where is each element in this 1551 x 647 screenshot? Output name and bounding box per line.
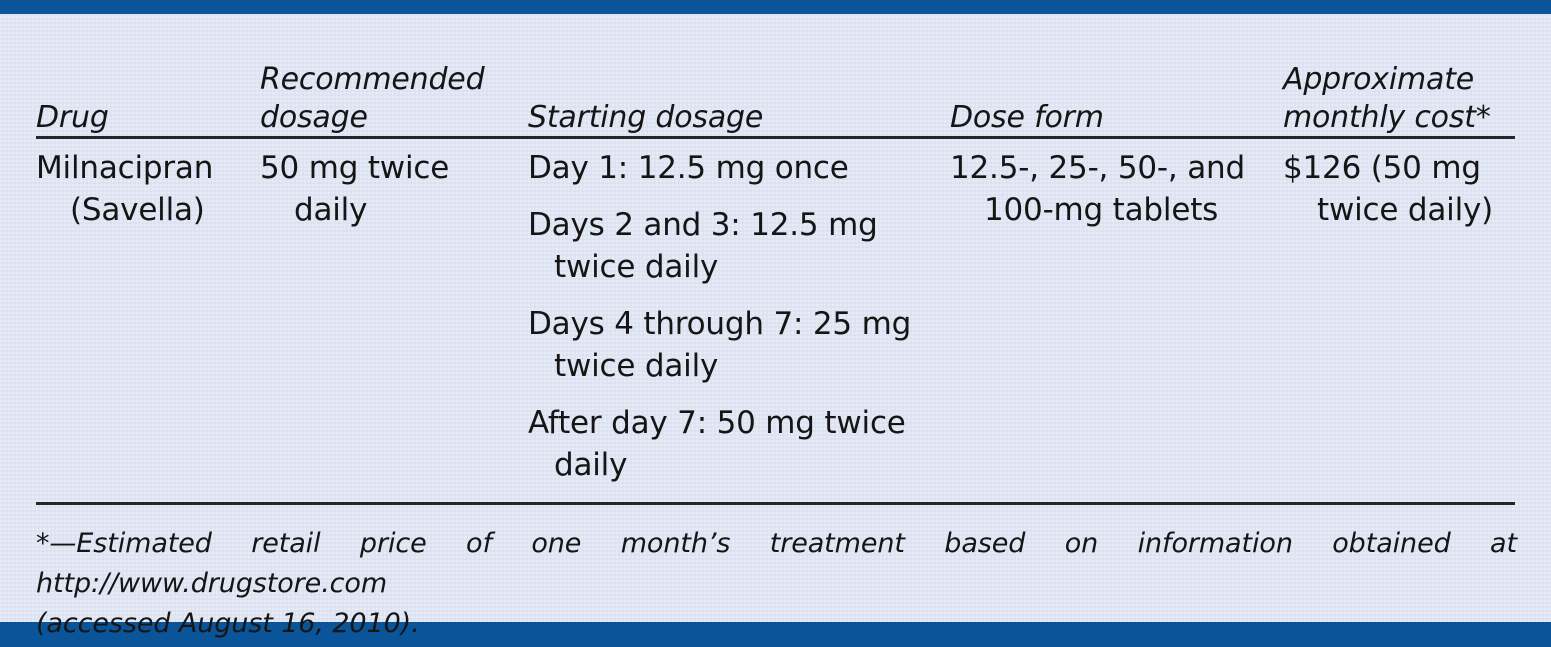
cell-line: Days 4 through 7: 25 mg twice daily: [528, 303, 920, 387]
table-header-row: Drug Recommended dosage Starting dosage …: [0, 14, 1551, 137]
column-header-monthly-cost: Approximate monthly cost*: [1283, 61, 1491, 137]
cell-dose-form: 12.5-, 25-, 50-, and 100-mg tablets: [950, 147, 1250, 231]
table-figure: Drug Recommended dosage Starting dosage …: [0, 0, 1551, 647]
footnote-line-1: *—Estimated retail price of one month’s …: [36, 524, 1517, 604]
column-header-recommended-dosage: Recommended dosage: [260, 61, 484, 137]
cell-drug: Milnacipran (Savella): [36, 147, 236, 231]
table-footnote: *—Estimated retail price of one month’s …: [36, 524, 1517, 644]
cell-line: 12.5-, 25-, 50-, and 100-mg tablets: [950, 147, 1250, 231]
footnote-line-2: (accessed August 16, 2010).: [36, 604, 1517, 644]
cell-starting-dosage: Day 1: 12.5 mg onceDays 2 and 3: 12.5 mg…: [528, 147, 920, 486]
cell-recommended-dosage: 50 mg twice daily: [260, 147, 490, 231]
column-header-starting-dosage: Starting dosage: [528, 99, 763, 137]
cell-monthly-cost: $126 (50 mg twice daily): [1283, 147, 1513, 231]
cell-line: Days 2 and 3: 12.5 mg twice daily: [528, 204, 920, 288]
column-header-drug: Drug: [36, 99, 109, 137]
cell-line: Milnacipran (Savella): [36, 147, 236, 231]
cell-line: After day 7: 50 mg twice daily: [528, 402, 920, 486]
top-accent-bar: [0, 0, 1551, 14]
header-rule: [36, 136, 1515, 139]
drug-table: Drug Recommended dosage Starting dosage …: [0, 14, 1551, 622]
cell-line: Day 1: 12.5 mg once: [528, 147, 920, 189]
footer-rule: [36, 502, 1515, 505]
cell-line: 50 mg twice daily: [260, 147, 490, 231]
cell-line: $126 (50 mg twice daily): [1283, 147, 1513, 231]
column-header-dose-form: Dose form: [950, 99, 1104, 137]
